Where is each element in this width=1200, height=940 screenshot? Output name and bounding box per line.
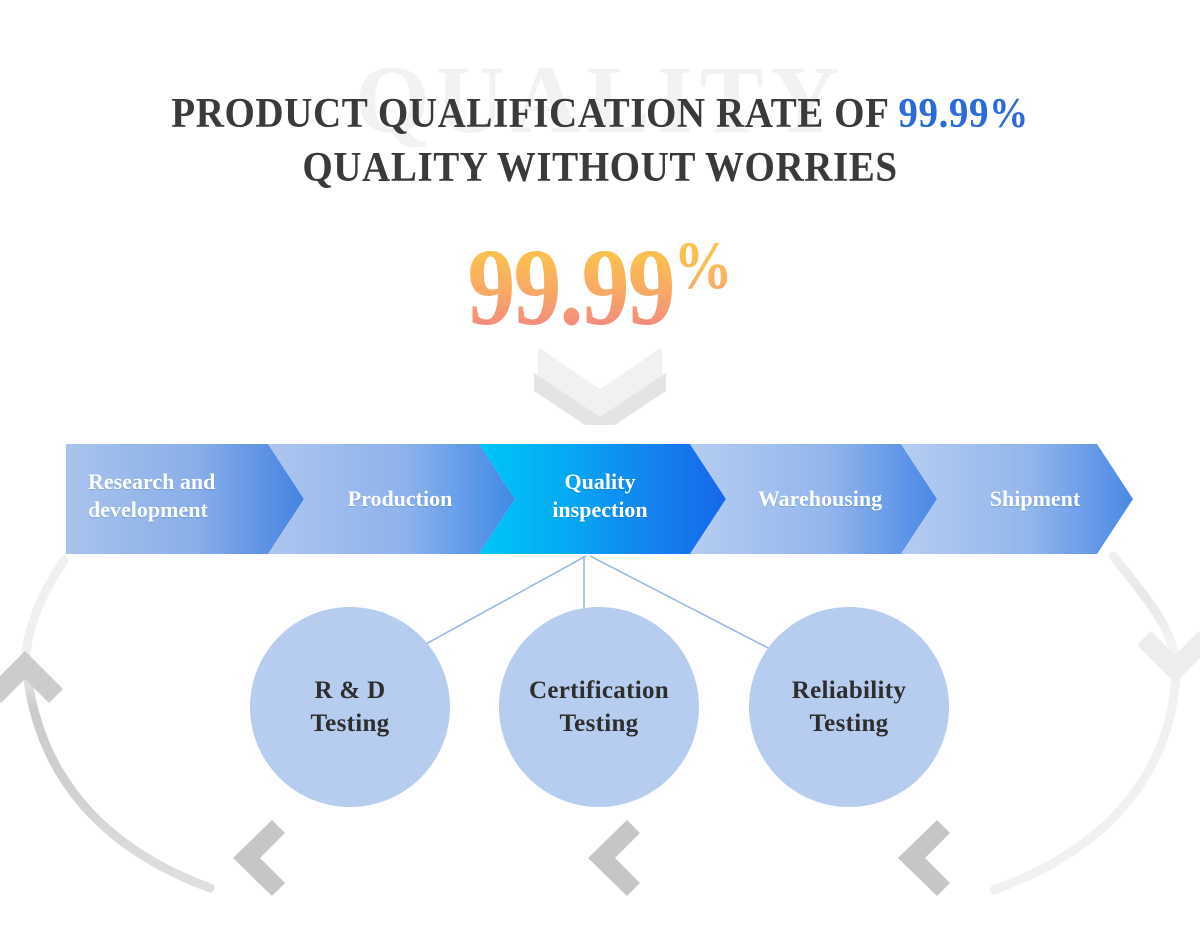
headline-line-1: PRODUCT QUALIFICATION RATE OF 99.99%	[42, 88, 1158, 142]
hero-metric: 99.99%	[0, 232, 1200, 337]
process-step-label-warehousing: Warehousing	[720, 485, 920, 513]
double-chevron-down-icon	[520, 345, 680, 425]
process-step-label-quality-inspection: Quality inspection	[510, 468, 690, 524]
curved-arrow-up-icon	[0, 651, 63, 703]
bottom-feedback-arrows	[218, 820, 1150, 896]
process-step-label-production: Production	[300, 485, 500, 513]
process-step-label-shipment: Shipment	[940, 485, 1130, 513]
arrow-left-icon	[588, 820, 930, 896]
right-feedback-loop	[994, 556, 1200, 890]
left-feedback-loop	[0, 560, 210, 888]
hero-metric-value: 99.99	[468, 227, 674, 349]
headline-line-1-text: PRODUCT QUALIFICATION RATE OF	[171, 91, 898, 137]
headline-accent-metric: 99.99%	[898, 91, 1028, 137]
detail-circle-label: Certification Testing	[529, 674, 669, 740]
detail-circle-certification-testing[interactable]: Certification Testing	[499, 607, 699, 807]
detail-circle-label: Reliability Testing	[792, 674, 906, 740]
page-title: PRODUCT QUALIFICATION RATE OF 99.99% QUA…	[0, 88, 1200, 196]
arrow-left-icon	[898, 820, 1150, 896]
detail-circle-rd-testing[interactable]: R & D Testing	[250, 607, 450, 807]
detail-circle-reliability-testing[interactable]: Reliability Testing	[749, 607, 949, 807]
detail-circle-label: R & D Testing	[311, 674, 390, 740]
process-step-label-research-and-development: Research and development	[88, 468, 278, 524]
curved-arrow-down-icon	[1137, 631, 1200, 683]
hero-metric-unit: %	[674, 228, 733, 303]
arrow-left-icon	[218, 820, 585, 896]
headline-line-2: QUALITY WITHOUT WORRIES	[42, 142, 1158, 196]
hero-metric-wrap: 99.99%	[468, 232, 733, 343]
